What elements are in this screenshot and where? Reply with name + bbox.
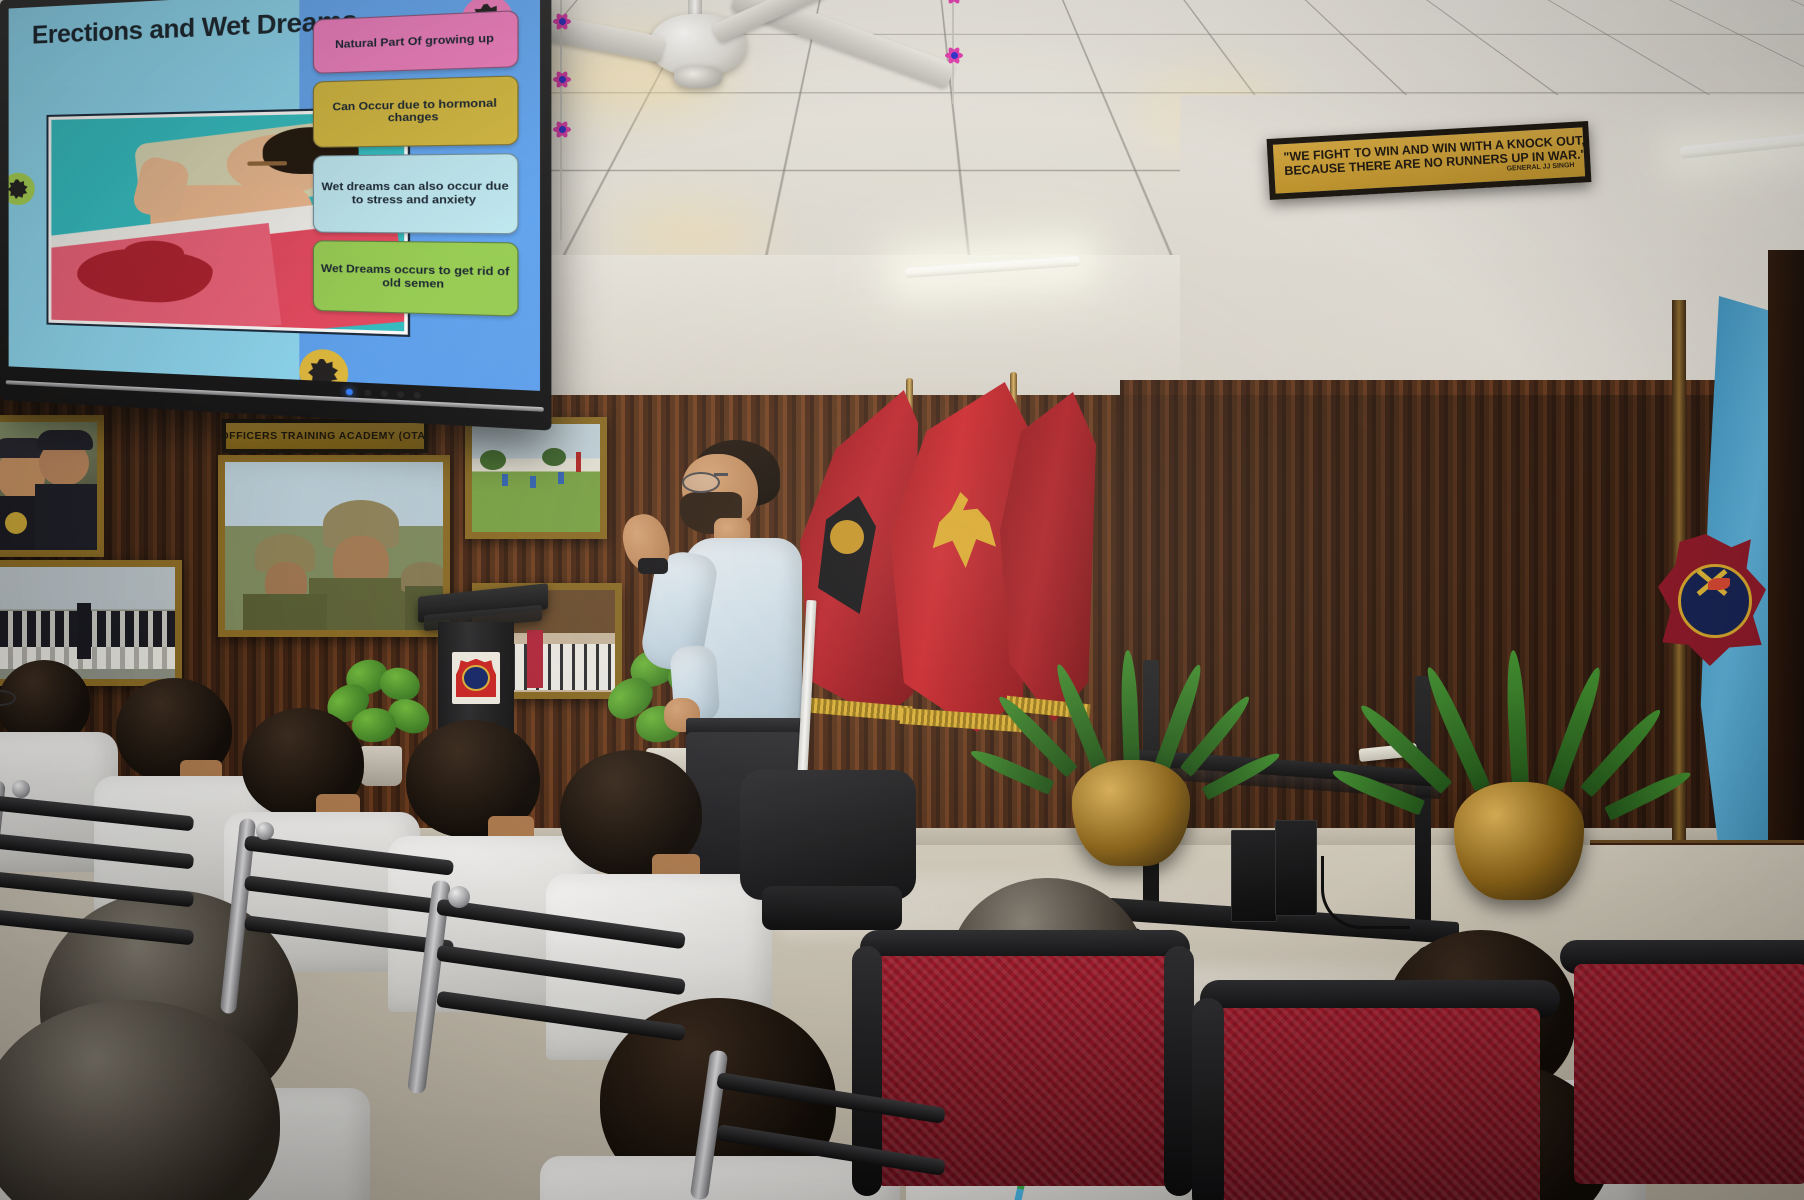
ceiling-light-glow	[610, 210, 770, 260]
slide-point-2: Can Occur due to hormonal changes	[312, 75, 518, 147]
wristwatch	[638, 558, 668, 574]
plant-pot	[1072, 760, 1190, 866]
slide-point-4: Wet Dreams occurs to get rid of old seme…	[312, 241, 518, 317]
auditorium-chair-red[interactable]	[1560, 940, 1804, 1200]
ota-sign-label: OFFICERS TRAINING ACADEMY (OTA)	[221, 430, 430, 442]
slide-point-3: Wet dreams can also occur due to stress …	[312, 153, 518, 235]
potted-palm	[1046, 664, 1246, 914]
display-screen[interactable]: Erections and Wet Dreams	[9, 0, 540, 391]
computer-tower	[1275, 820, 1317, 916]
auditorium-chair[interactable]	[0, 780, 240, 980]
soldiers-helmets-photo	[218, 455, 450, 637]
podium-crest	[452, 652, 500, 704]
indicator-led	[397, 391, 404, 398]
slide-point-1: Natural Part Of growing up	[312, 10, 518, 74]
interactive-display[interactable]: Erections and Wet Dreams	[0, 0, 551, 431]
student-audience-member	[0, 1000, 300, 1200]
trolley-cable	[1321, 856, 1410, 929]
power-led	[346, 389, 353, 396]
auditorium-chair[interactable]	[700, 1050, 960, 1200]
auditorium-chair[interactable]	[420, 880, 720, 1110]
potted-palm	[1418, 670, 1648, 950]
indicator-led	[414, 392, 421, 399]
ota-sign: OFFICERS TRAINING ACADEMY (OTA)	[222, 419, 428, 453]
auditorium-scene: "WE FIGHT TO WIN AND WIN WITH A KNOCK OU…	[0, 0, 1804, 1200]
indicator-led	[381, 390, 388, 397]
plant-pot	[1454, 782, 1584, 900]
cadet-portrait-photo	[0, 415, 104, 557]
field-ground-photo	[465, 417, 607, 539]
indicator-led	[364, 389, 371, 396]
glasses-bridge	[714, 473, 728, 476]
auditorium-chair-red[interactable]	[1200, 980, 1560, 1200]
